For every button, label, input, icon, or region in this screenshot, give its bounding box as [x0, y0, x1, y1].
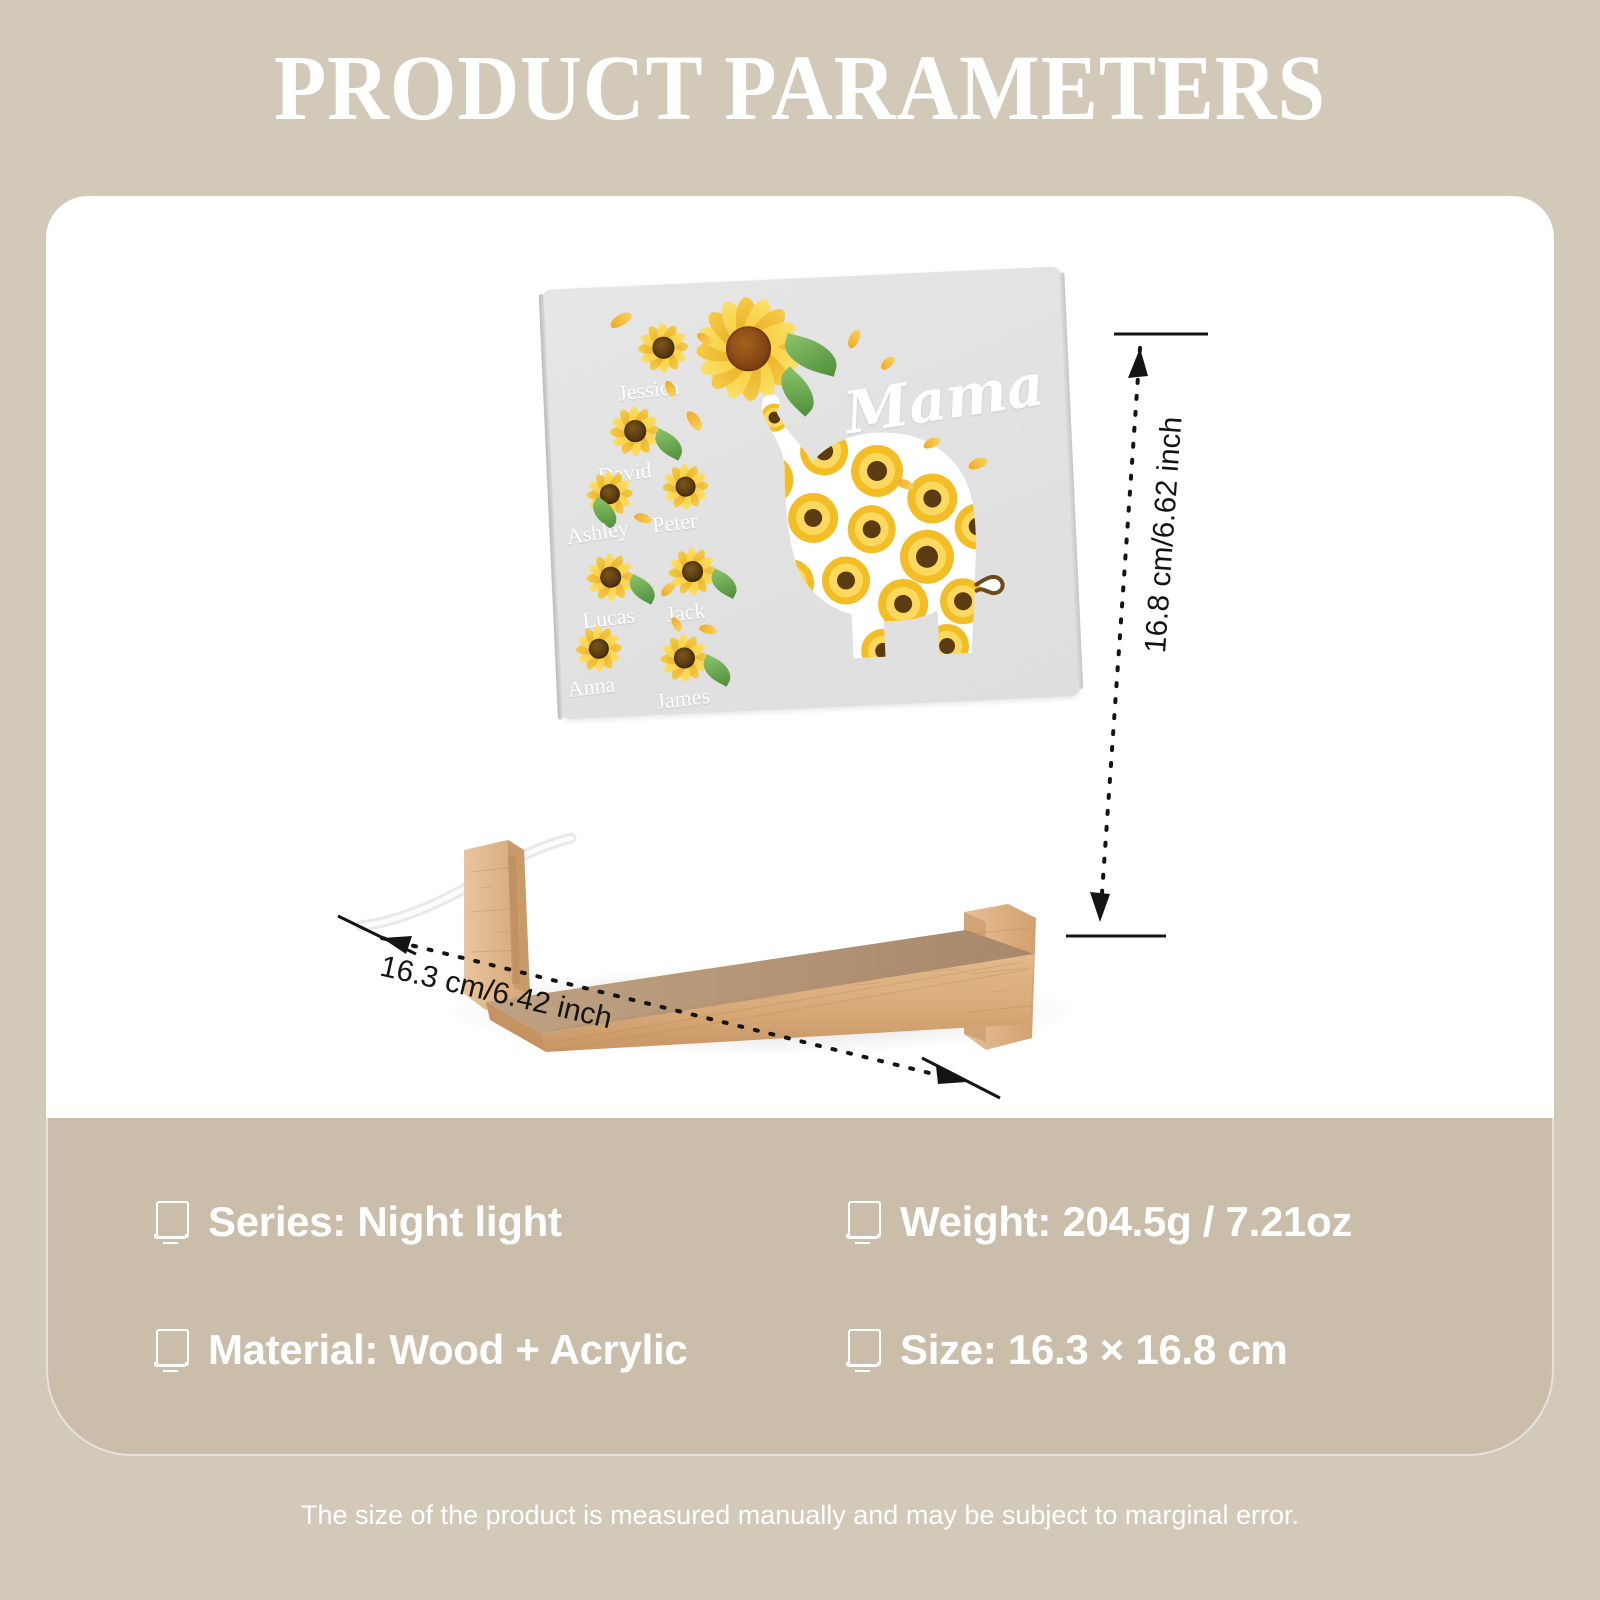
width-dimension	[316, 886, 1016, 1118]
spec-weight: Weight: 204.5g / 7.21oz	[800, 1198, 1552, 1246]
spec-material-text: Material: Wood + Acrylic	[208, 1326, 687, 1374]
name-label: Peter	[651, 508, 699, 539]
acrylic-panel: Jessica David	[542, 266, 1081, 719]
product-photo-card: Jessica David	[46, 196, 1554, 1118]
page-title: PRODUCT PARAMETERS	[64, 42, 1536, 135]
name-label: Ashley	[565, 515, 631, 550]
plaque-icon	[154, 1201, 188, 1243]
height-dimension	[1056, 316, 1216, 956]
spec-size: Size: 16.3 × 16.8 cm	[800, 1326, 1552, 1374]
spec-material: Material: Wood + Acrylic	[48, 1326, 800, 1374]
plaque-icon	[846, 1329, 880, 1371]
product-illustration: Jessica David	[46, 196, 1554, 1118]
sunflower-small	[607, 403, 663, 459]
spec-series-text: Series: Night light	[208, 1198, 562, 1246]
name-label: James	[655, 683, 711, 715]
petal	[845, 328, 863, 350]
name-label: Anna	[566, 672, 616, 703]
footer-note: The size of the product is measured manu…	[0, 1500, 1600, 1531]
specs-grid: Series: Night light Weight: 204.5g / 7.2…	[48, 1118, 1552, 1454]
petal	[684, 409, 706, 433]
sunflower-small	[573, 623, 625, 675]
petal	[608, 309, 634, 331]
plaque-icon	[846, 1201, 880, 1243]
petal	[633, 511, 653, 525]
sunflower-small	[657, 631, 711, 685]
plaque-icon	[154, 1329, 188, 1371]
infographic-page: PRODUCT PARAMETERS	[0, 0, 1600, 1600]
sunflower-small	[583, 550, 637, 604]
petal	[698, 623, 718, 636]
spec-series: Series: Night light	[48, 1198, 800, 1246]
acrylic-artwork: Jessica David	[542, 266, 1081, 719]
petal	[878, 354, 897, 372]
spec-size-text: Size: 16.3 × 16.8 cm	[900, 1326, 1287, 1374]
sunflower-small	[665, 544, 719, 598]
sunflower-small	[635, 319, 691, 375]
spec-weight-text: Weight: 204.5g / 7.21oz	[900, 1198, 1352, 1246]
sunflower-small	[659, 461, 711, 513]
specs-panel: Series: Night light Weight: 204.5g / 7.2…	[46, 1118, 1554, 1456]
